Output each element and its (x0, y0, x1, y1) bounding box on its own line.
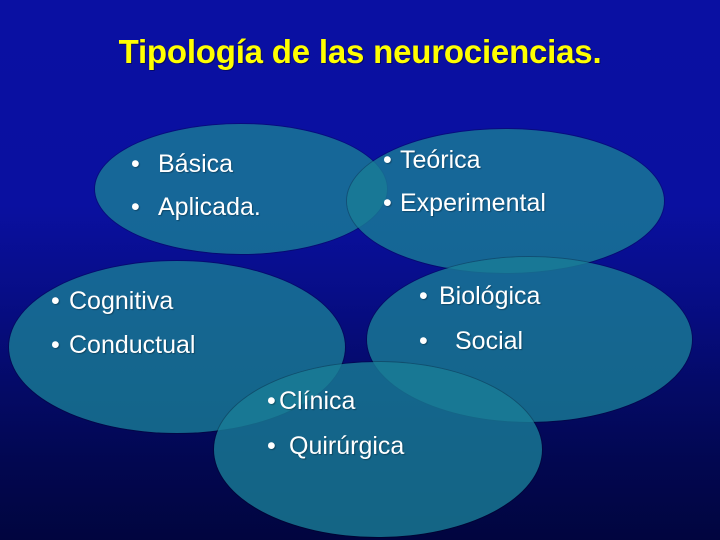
list-item: •Quirúrgica (267, 434, 404, 459)
bullet-glyph: • (51, 333, 69, 358)
list-item-label: Social (455, 327, 523, 355)
list-item-label: Cognitiva (69, 287, 173, 315)
list-item-label: Clínica (279, 387, 355, 415)
bullet-glyph: • (267, 434, 289, 459)
label-group-cognitiva-conductual: •Cognitiva •Conductual (51, 289, 195, 358)
bullet-glyph: • (383, 191, 400, 216)
list-item: •Clínica (267, 389, 404, 414)
list-item-label: Aplicada. (158, 193, 261, 221)
list-item-label: Teórica (400, 146, 481, 174)
list-item: •Teórica (383, 148, 546, 173)
venn-diagram-labels: •Básica •Aplicada. •Teórica •Experimenta… (0, 0, 720, 540)
label-group-teorica-experimental: •Teórica •Experimental (383, 148, 546, 216)
bullet-glyph: • (131, 195, 158, 220)
bullet-glyph: • (383, 148, 400, 173)
bullet-glyph: • (419, 329, 455, 354)
list-item: •Conductual (51, 333, 195, 358)
label-group-biologica-social: •Biológica •Social (419, 284, 540, 354)
list-item: •Biológica (419, 284, 540, 309)
list-item-label: Conductual (69, 331, 195, 359)
label-group-basica-aplicada: •Básica •Aplicada. (131, 152, 261, 220)
list-item: •Cognitiva (51, 289, 195, 314)
presentation-slide: Tipología de las neurociencias. •Básica … (0, 0, 720, 540)
bullet-glyph: • (267, 389, 279, 414)
bullet-glyph: • (419, 284, 439, 309)
list-item: •Social (419, 329, 540, 354)
list-item-label: Biológica (439, 282, 540, 310)
list-item: •Básica (131, 152, 261, 177)
bullet-glyph: • (51, 289, 69, 314)
list-item: •Experimental (383, 191, 546, 216)
list-item-label: Quirúrgica (289, 432, 404, 460)
label-group-clinica-quirurgica: •Clínica •Quirúrgica (267, 389, 404, 459)
list-item-label: Experimental (400, 189, 546, 217)
bullet-glyph: • (131, 152, 158, 177)
list-item-label: Básica (158, 150, 233, 178)
list-item: •Aplicada. (131, 195, 261, 220)
